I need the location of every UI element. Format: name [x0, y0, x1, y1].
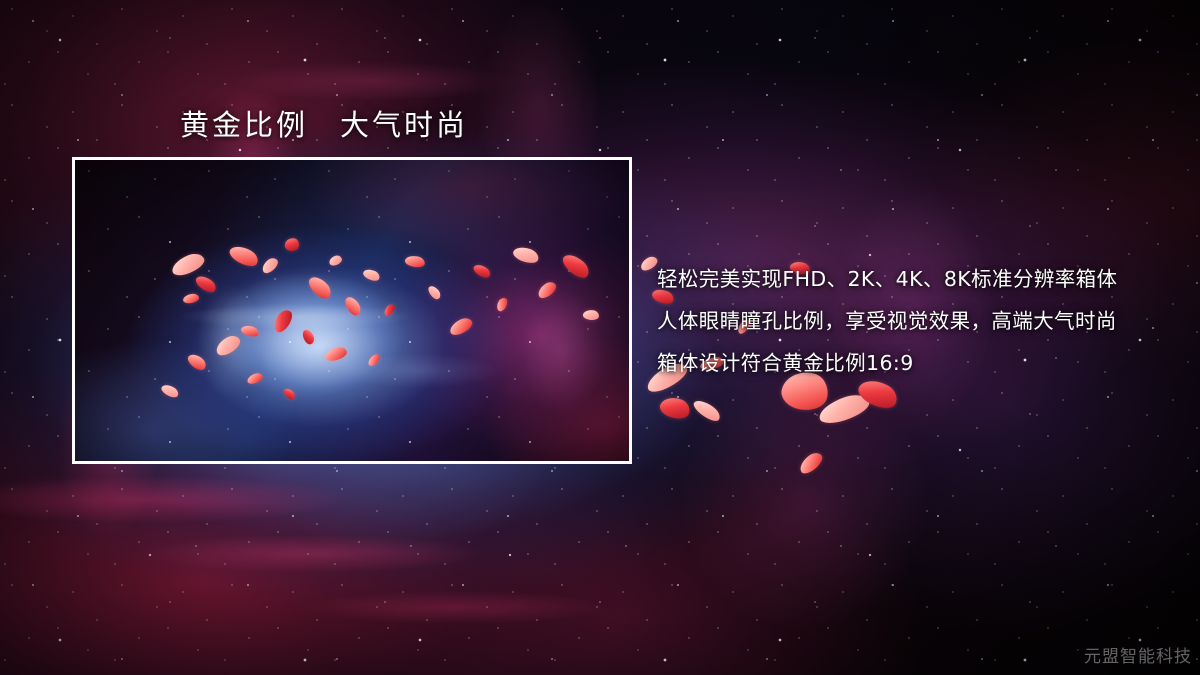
rose-petal	[182, 293, 199, 304]
presentation-slide: 黄金比例 大气时尚 轻松完美实现FHD、2K、4K、8K标准分辨率箱体 人体眼睛…	[0, 0, 1200, 675]
rose-petal	[240, 323, 260, 338]
rose-petal	[362, 267, 382, 283]
rose-petal	[427, 284, 443, 301]
rose-petal	[404, 254, 426, 269]
rose-petal	[328, 254, 343, 267]
rose-petal	[495, 296, 510, 313]
rose-petal	[382, 302, 397, 317]
rose-petal	[559, 250, 592, 282]
watermark: 元盟智能科技	[1084, 642, 1192, 667]
rose-petal	[246, 372, 264, 386]
rose-petal	[535, 279, 558, 300]
rose-petal	[582, 309, 599, 321]
rose-petal	[270, 307, 295, 335]
rose-petal	[282, 386, 296, 401]
image-frame	[72, 157, 632, 464]
rose-petal	[447, 315, 474, 337]
page-title: 黄金比例 大气时尚	[180, 102, 468, 144]
rose-petal	[301, 328, 316, 346]
petal-group-frame	[75, 160, 629, 461]
rose-petal	[185, 351, 208, 373]
rose-petal	[213, 333, 243, 359]
rose-petal	[260, 256, 281, 276]
body-line-3: 箱体设计符合黄金比例16:9	[657, 342, 1177, 384]
body-line-2: 人体眼睛瞳孔比例，享受视觉效果，高端大气时尚	[657, 300, 1177, 342]
rose-petal	[169, 250, 207, 278]
rose-petal	[284, 237, 300, 252]
rose-petal	[227, 242, 261, 270]
rose-petal	[511, 244, 540, 266]
rose-petal	[160, 382, 181, 400]
rose-petal	[472, 262, 493, 280]
rose-petal	[324, 345, 348, 362]
rose-petal	[366, 352, 382, 367]
rose-petal	[194, 273, 219, 296]
rose-petal	[343, 294, 363, 317]
body-line-1: 轻松完美实现FHD、2K、4K、8K标准分辨率箱体	[657, 258, 1177, 300]
rose-petal	[306, 273, 335, 302]
body-text-block: 轻松完美实现FHD、2K、4K、8K标准分辨率箱体 人体眼睛瞳孔比例，享受视觉效…	[657, 258, 1177, 384]
